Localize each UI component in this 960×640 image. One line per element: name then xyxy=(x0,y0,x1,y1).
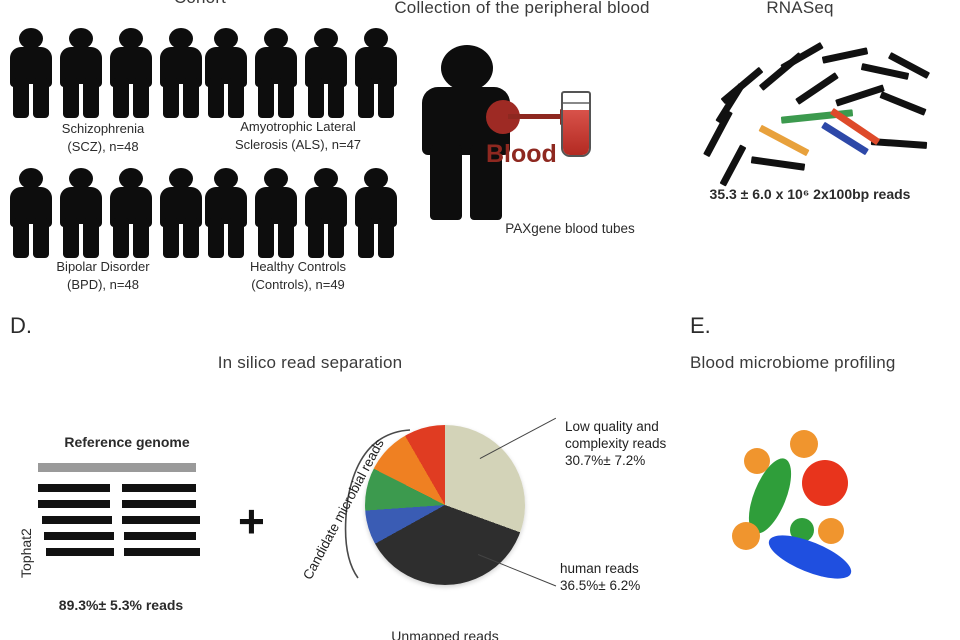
callout-line-low-quality xyxy=(480,418,557,460)
callout-line2: complexity reads xyxy=(565,435,745,452)
microbe-blob-orange xyxy=(732,522,760,550)
blood-word-label: Blood xyxy=(486,140,557,169)
person-icon xyxy=(58,168,104,258)
sequence-read xyxy=(720,144,747,186)
aligned-read xyxy=(38,500,110,508)
person-icon xyxy=(203,168,249,258)
person-icon xyxy=(58,28,104,118)
microbe-blob-red xyxy=(802,460,848,506)
arrow-right-icon xyxy=(508,114,562,119)
person-icon xyxy=(303,28,349,118)
cohort-label-line1: Bipolar Disorder xyxy=(8,258,198,276)
aligned-read xyxy=(122,500,196,508)
person-icon xyxy=(303,168,349,258)
sequence-read xyxy=(795,72,839,105)
paxgene-caption: PAXgene blood tubes xyxy=(470,220,670,237)
callout-line1: human reads xyxy=(560,560,730,577)
microbe-blob-orange xyxy=(818,518,844,544)
microbiome-title: Blood microbiome profiling xyxy=(690,353,950,373)
panel-letter-e: E. xyxy=(690,313,711,339)
rnaseq-reads-illustration xyxy=(675,40,945,175)
aligned-read xyxy=(46,548,114,556)
reference-genome-label: Reference genome xyxy=(32,434,222,451)
cohort-label-line1: Amyotrophic Lateral xyxy=(193,118,403,136)
aligned-read xyxy=(124,548,200,556)
sequence-read xyxy=(780,42,823,71)
person-icon xyxy=(8,168,54,258)
cohort-title: Cohort xyxy=(60,0,340,8)
microbe-blob-orange xyxy=(790,430,818,458)
reference-genome-bar xyxy=(38,463,196,472)
cohort-icons-bipolar xyxy=(8,168,204,258)
aligned-read xyxy=(122,484,196,492)
cohort-label-schizophrenia: Schizophrenia (SCZ), n=48 xyxy=(8,120,198,156)
sequence-read xyxy=(879,91,926,115)
aligned-reads-stack xyxy=(36,484,204,564)
cohort-icons-controls xyxy=(203,168,399,258)
person-icon xyxy=(253,168,299,258)
callout-low-quality-reads: Low quality and complexity reads 30.7%± … xyxy=(565,418,745,469)
cohort-label-als: Amyotrophic Lateral Sclerosis (ALS), n=4… xyxy=(193,118,403,154)
cohort-label-line2: (BPD), n=48 xyxy=(8,276,198,294)
person-icon xyxy=(158,28,204,118)
callout-line3: 30.7%± 7.2% xyxy=(565,452,745,469)
sequence-read-orange xyxy=(759,125,810,157)
person-icon xyxy=(108,28,154,118)
microbiome-illustration xyxy=(730,430,920,620)
plus-symbol: + xyxy=(238,498,265,544)
aligned-read xyxy=(42,516,112,524)
sequence-read xyxy=(721,67,764,105)
rnaseq-caption: 35.3 ± 6.0 x 10⁶ 2x100bp reads xyxy=(680,186,940,203)
sequence-read xyxy=(835,84,885,106)
cohort-label-line2: (SCZ), n=48 xyxy=(8,138,198,156)
sequence-read xyxy=(751,156,805,170)
panel-letter-d: D. xyxy=(10,313,32,339)
separation-title: In silico read separation xyxy=(130,353,490,373)
person-icon xyxy=(253,28,299,118)
sequence-read-red xyxy=(830,108,880,145)
test-tube-icon xyxy=(561,91,591,157)
aligner-label: Tophat2 xyxy=(18,528,34,578)
person-icon xyxy=(8,28,54,118)
person-icon xyxy=(203,28,249,118)
aligned-read xyxy=(122,516,200,524)
person-icon xyxy=(353,168,399,258)
cohort-label-bipolar: Bipolar Disorder (BPD), n=48 xyxy=(8,258,198,294)
callout-human-reads: human reads 36.5%± 6.2% xyxy=(560,560,730,594)
cohort-label-controls: Healthy Controls (Controls), n=49 xyxy=(198,258,398,294)
cohort-label-line2: (Controls), n=49 xyxy=(198,276,398,294)
person-icon xyxy=(158,168,204,258)
blood-title: Collection of the peripheral blood xyxy=(372,0,672,18)
cohort-icons-als xyxy=(203,28,399,118)
callout-line1: Low quality and xyxy=(565,418,745,435)
figure-root: Cohort Schizophrenia (SCZ), n=48 Amyotro… xyxy=(0,0,960,640)
aligned-read xyxy=(44,532,114,540)
aligned-read xyxy=(124,532,196,540)
unmapped-reads-caption: Unmapped reads xyxy=(355,628,535,640)
aligned-reads-caption: 89.3%± 5.3% reads xyxy=(26,597,216,614)
sequence-read xyxy=(822,47,868,63)
cohort-label-line1: Healthy Controls xyxy=(198,258,398,276)
cohort-label-line1: Schizophrenia xyxy=(8,120,198,138)
cohort-icons-schizophrenia xyxy=(8,28,204,118)
person-icon xyxy=(108,168,154,258)
cohort-label-line2: Sclerosis (ALS), n=47 xyxy=(193,136,403,154)
person-icon xyxy=(353,28,399,118)
rnaseq-title: RNASeq xyxy=(700,0,900,18)
aligned-read xyxy=(38,484,110,492)
callout-line2: 36.5%± 6.2% xyxy=(560,577,730,594)
